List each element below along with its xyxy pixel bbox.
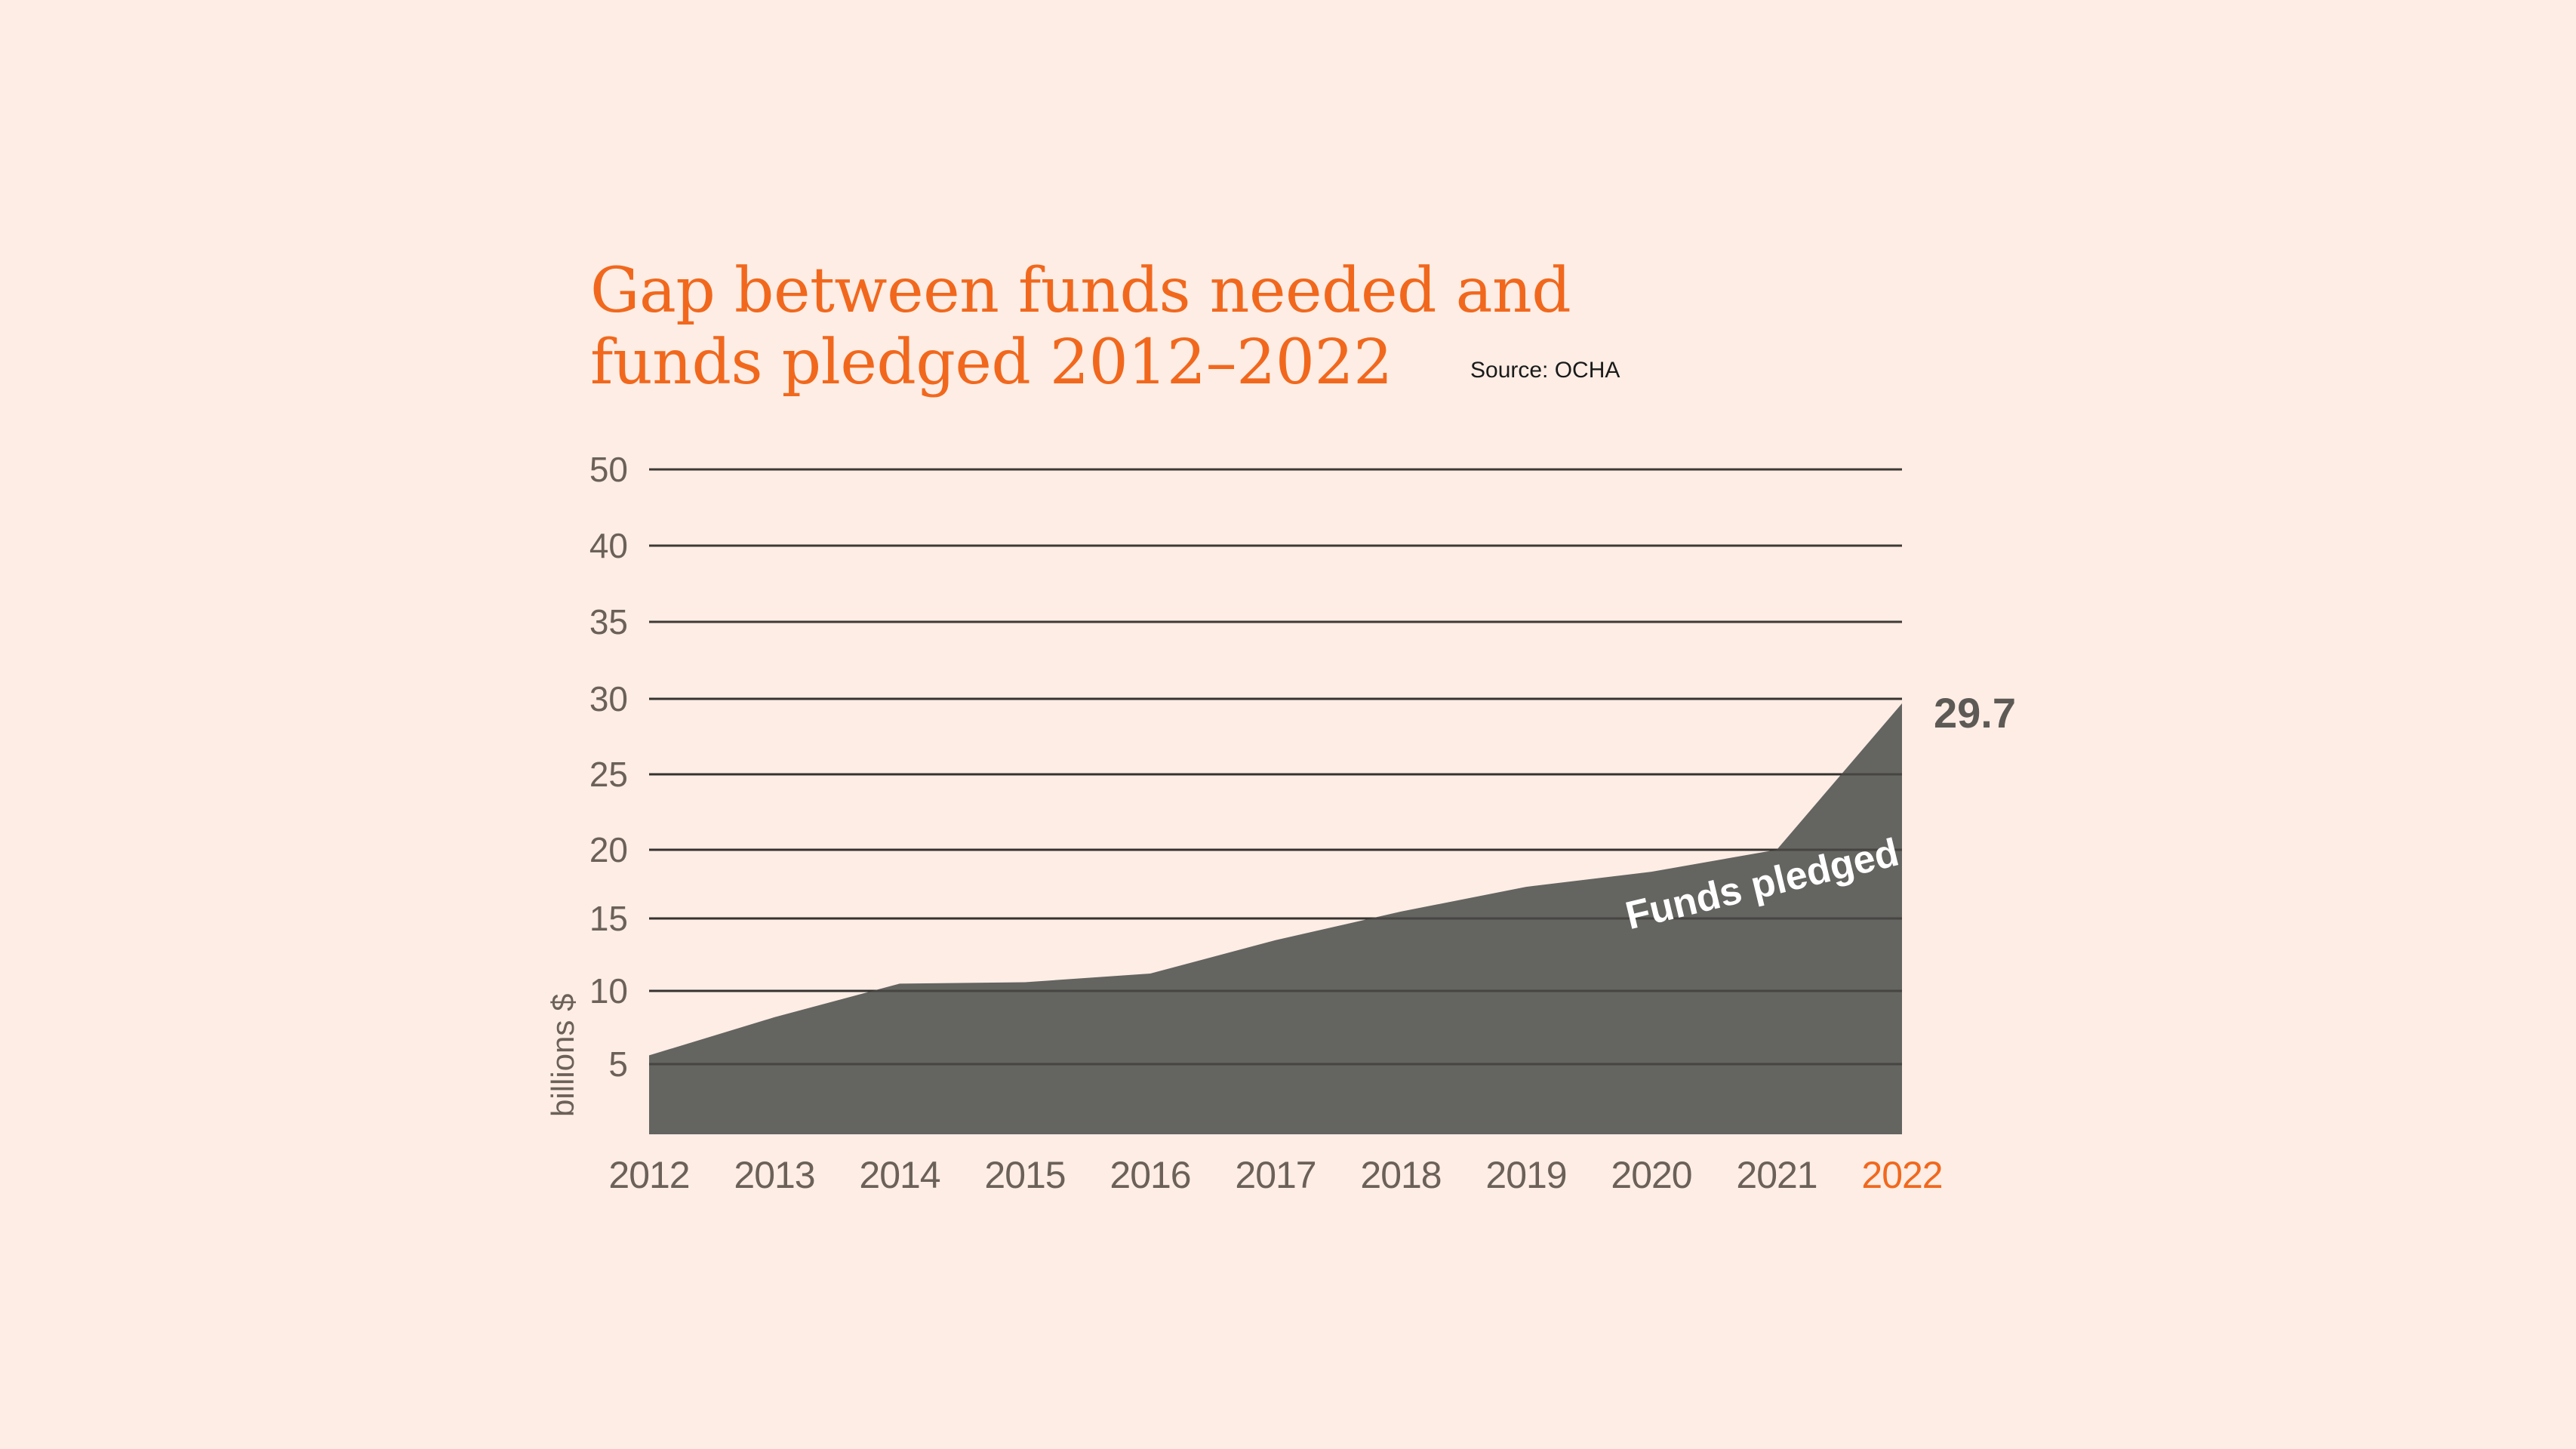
chart-page: Gap between funds needed and funds pledg… xyxy=(0,0,2576,1449)
x-tick-label-2014: 2014 xyxy=(859,1153,940,1197)
y-tick-label-40: 40 xyxy=(545,525,628,566)
x-tick-label-2012: 2012 xyxy=(608,1153,689,1197)
x-tick-label-2019: 2019 xyxy=(1485,1153,1566,1197)
y-axis-title: billions $ xyxy=(545,994,581,1117)
x-tick-label-2015: 2015 xyxy=(984,1153,1065,1197)
y-tick-label-15: 15 xyxy=(545,898,628,939)
x-tick-label-2022: 2022 xyxy=(1861,1153,1942,1197)
y-tick-label-30: 30 xyxy=(545,678,628,719)
y-tick-label-50: 50 xyxy=(545,449,628,490)
x-tick-label-2016: 2016 xyxy=(1109,1153,1190,1197)
y-tick-label-25: 25 xyxy=(545,754,628,795)
x-tick-label-2020: 2020 xyxy=(1611,1153,1691,1197)
x-tick-label-2018: 2018 xyxy=(1360,1153,1441,1197)
x-tick-label-2013: 2013 xyxy=(734,1153,814,1197)
chart-svg xyxy=(0,0,2576,1449)
x-tick-label-2021: 2021 xyxy=(1736,1153,1817,1197)
x-tick-label-2017: 2017 xyxy=(1235,1153,1316,1197)
chart-plot xyxy=(0,0,2576,1449)
y-tick-label-35: 35 xyxy=(545,601,628,642)
end-value-callout: 29.7 xyxy=(1934,688,2016,737)
y-tick-label-20: 20 xyxy=(545,829,628,870)
